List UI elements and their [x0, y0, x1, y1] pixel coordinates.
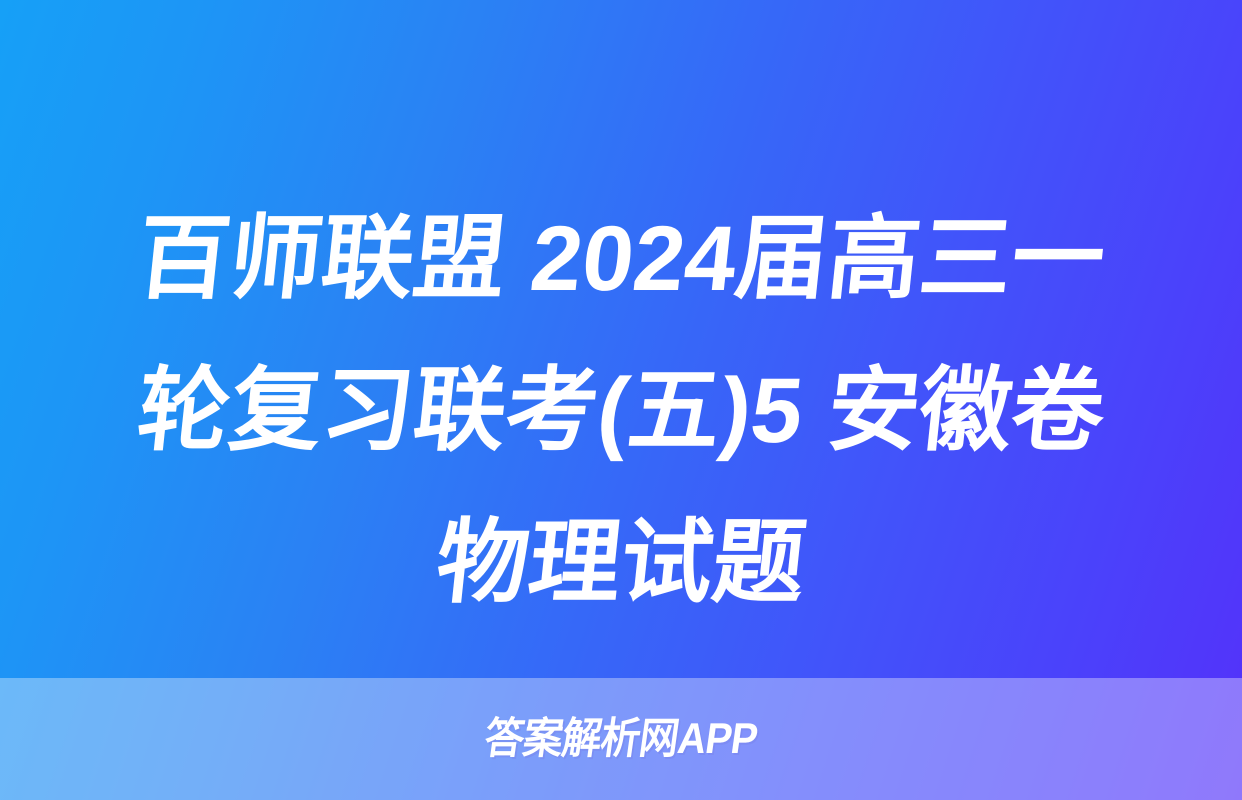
page-title: 百师联盟 2024届高三一 轮复习联考(五)5 安徽卷 物理试题: [0, 183, 1242, 639]
title-line-1: 百师联盟 2024届高三一: [52, 183, 1190, 335]
poster-canvas: 百师联盟 2024届高三一 轮复习联考(五)5 安徽卷 物理试题 答案解析网AP…: [0, 0, 1242, 800]
watermark-band: 答案解析网APP: [0, 678, 1242, 800]
watermark-label: 答案解析网APP: [482, 718, 760, 761]
title-line-2: 轮复习联考(五)5 安徽卷: [52, 335, 1190, 487]
title-line-3: 物理试题: [52, 487, 1190, 639]
